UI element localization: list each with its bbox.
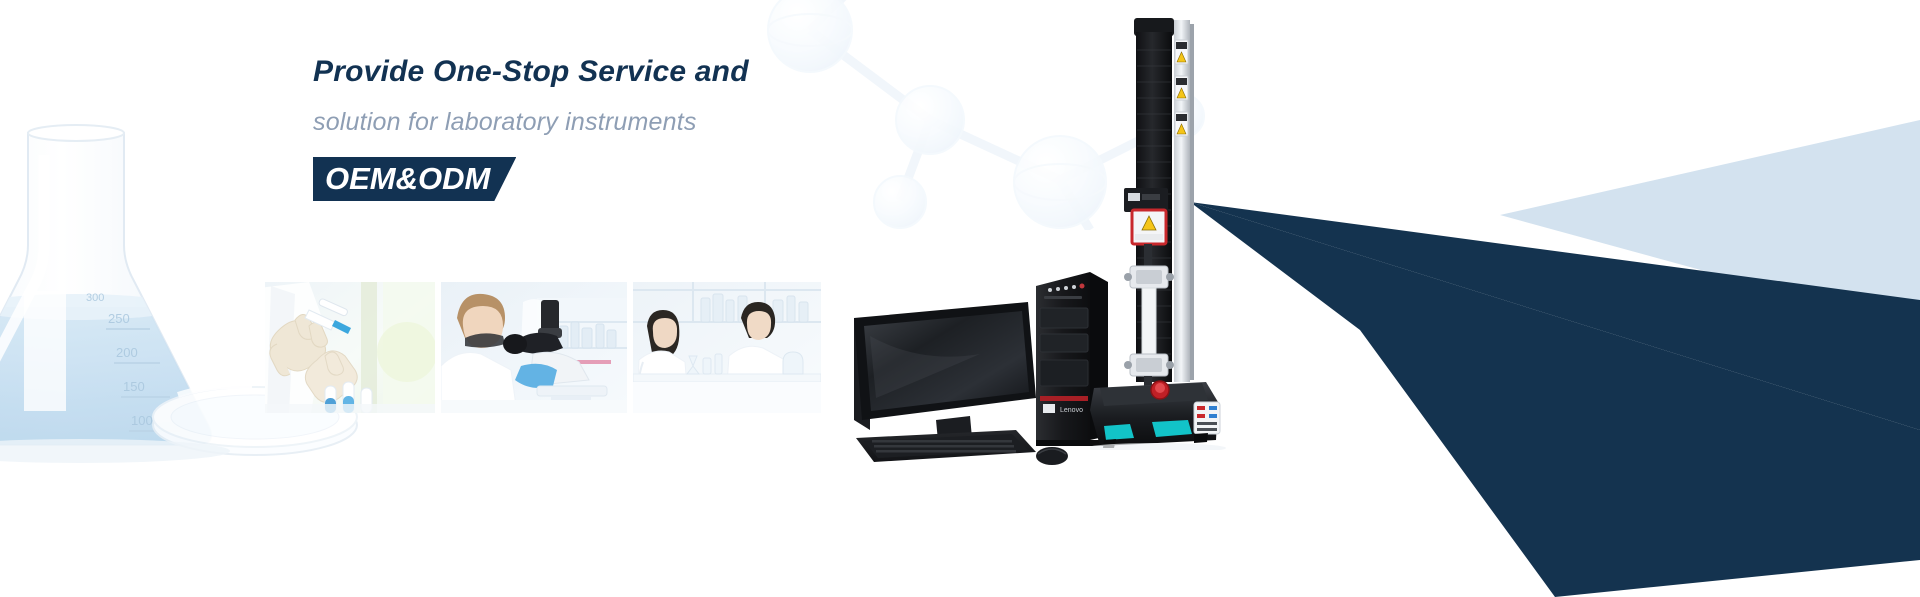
molecule-watermark bbox=[730, 0, 1250, 230]
photo-lab-team bbox=[633, 282, 821, 413]
photo-microscope bbox=[441, 282, 627, 413]
column-top-cap bbox=[1134, 18, 1174, 36]
photo-pipetting bbox=[265, 282, 435, 413]
crosshead bbox=[1124, 188, 1168, 244]
base-console bbox=[1090, 381, 1220, 448]
svg-text:150: 150 bbox=[123, 379, 145, 394]
flask-graduations: 250 200 150 100 300 bbox=[86, 292, 180, 431]
page-subtitle: solution for laboratory instruments bbox=[313, 110, 749, 135]
light-blue-triangle bbox=[1500, 120, 1920, 330]
svg-text:300: 300 bbox=[86, 292, 104, 304]
desktop-computer: Lenovo bbox=[840, 0, 1320, 470]
column bbox=[1136, 32, 1172, 382]
oem-odm-ribbon: OEM&ODM bbox=[313, 157, 516, 201]
svg-text:100: 100 bbox=[131, 413, 153, 428]
lcd-monitor bbox=[854, 302, 1036, 451]
grips bbox=[1124, 244, 1174, 388]
flask-body bbox=[0, 125, 240, 467]
svg-text:Lenovo: Lenovo bbox=[1060, 407, 1083, 414]
tower-case: Lenovo bbox=[1036, 272, 1108, 446]
svg-text:200: 200 bbox=[116, 345, 138, 360]
right-shapes bbox=[1160, 0, 1920, 597]
warning-triangle-label bbox=[1175, 40, 1188, 136]
universal-tensile-testing-machine bbox=[1090, 10, 1270, 450]
page-title: Provide One-Stop Service and bbox=[313, 57, 749, 87]
svg-text:250: 250 bbox=[108, 311, 130, 326]
mouse bbox=[1036, 447, 1068, 465]
lab-photo-strip bbox=[265, 282, 821, 413]
guide-rail bbox=[1174, 20, 1190, 382]
promo-banner: 250 200 150 100 300 bbox=[0, 0, 1920, 597]
headline-block: Provide One-Stop Service and solution fo… bbox=[313, 57, 749, 201]
dark-navy-arrow bbox=[1190, 202, 1920, 597]
keyboard bbox=[856, 430, 1036, 462]
